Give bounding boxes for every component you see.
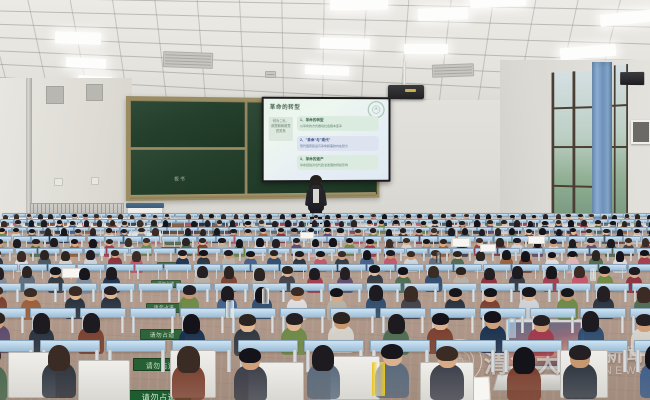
desk-leg xyxy=(44,240,45,247)
desk-leg xyxy=(137,240,138,247)
desk-leg xyxy=(155,240,156,247)
desk-leg xyxy=(414,221,415,226)
student-hair xyxy=(324,228,330,232)
student-hair xyxy=(542,221,548,225)
desk-leg xyxy=(477,269,479,279)
desk-leg xyxy=(303,240,304,247)
desk-leg xyxy=(472,229,473,235)
desk-leg xyxy=(354,252,356,261)
student-hair xyxy=(239,314,256,326)
desk-leg xyxy=(140,289,142,302)
desk-leg xyxy=(346,221,347,226)
student-hair xyxy=(464,214,469,217)
student-hair xyxy=(569,345,591,360)
water-bottle xyxy=(262,288,269,304)
student-hair xyxy=(83,313,100,333)
desk-leg xyxy=(576,221,577,226)
student-hair xyxy=(245,221,251,225)
desk-leg xyxy=(630,221,631,226)
student-hair xyxy=(513,238,520,243)
student-hair xyxy=(453,251,462,257)
desk-leg xyxy=(285,252,287,261)
desk-leg xyxy=(363,229,364,235)
student-hair xyxy=(592,250,601,260)
student-hair xyxy=(256,238,263,247)
student-hair xyxy=(441,214,446,217)
student-hair xyxy=(40,250,49,260)
desk-leg xyxy=(187,269,189,279)
desk-leg xyxy=(53,229,54,235)
desk-leg xyxy=(174,240,175,247)
student-hair xyxy=(260,228,266,232)
student-hair xyxy=(106,228,112,232)
student-hair xyxy=(513,347,535,373)
desk-leg xyxy=(308,252,310,261)
student-hair xyxy=(610,221,616,225)
desk-leg xyxy=(279,221,280,226)
student-hair xyxy=(182,238,189,247)
student-hair xyxy=(449,288,462,297)
student-hair xyxy=(561,288,574,297)
student-hair xyxy=(497,215,502,218)
student-hair xyxy=(474,220,480,227)
desk-leg xyxy=(332,269,334,279)
student-hair xyxy=(338,251,347,257)
desk-leg xyxy=(100,229,101,235)
desk-leg xyxy=(170,252,172,261)
student-hair xyxy=(448,228,454,235)
student-hair xyxy=(106,267,117,280)
student-hair xyxy=(33,313,50,333)
student-hair xyxy=(246,251,255,257)
student-hair xyxy=(393,220,399,224)
desk-leg xyxy=(387,221,388,226)
student-hair xyxy=(122,221,128,225)
desk-leg xyxy=(239,252,241,261)
desk-leg xyxy=(433,240,434,247)
desk-leg xyxy=(360,221,361,226)
water-bottle xyxy=(508,318,516,338)
student-hair xyxy=(295,251,304,257)
student-hair xyxy=(582,311,599,331)
desk-leg xyxy=(71,316,74,333)
student-hair xyxy=(205,220,211,227)
notebook-paper xyxy=(452,238,470,247)
desk-leg xyxy=(607,252,609,261)
desk-leg xyxy=(410,229,411,235)
desk-leg xyxy=(227,350,231,372)
desk-leg xyxy=(586,289,588,302)
student-hair xyxy=(272,239,279,248)
student-hair xyxy=(185,228,191,235)
student-hair xyxy=(431,228,437,232)
student-hair xyxy=(484,288,497,297)
desk-leg xyxy=(192,240,193,247)
desk-leg xyxy=(292,221,293,226)
student-torso xyxy=(430,364,464,400)
student-hair xyxy=(270,250,279,256)
desk-leg xyxy=(503,229,504,235)
student-hair xyxy=(152,228,158,235)
desk-leg xyxy=(396,289,398,302)
desk-leg xyxy=(332,229,333,235)
desk-leg xyxy=(515,252,517,261)
student-hair xyxy=(69,286,82,295)
student-desk xyxy=(130,308,176,318)
desk-leg xyxy=(611,229,612,235)
student-hair xyxy=(548,252,557,258)
desk-leg xyxy=(303,269,305,279)
desk-leg xyxy=(423,252,425,261)
student-hair xyxy=(214,228,220,235)
student-hair xyxy=(404,286,417,302)
desk-leg xyxy=(76,221,77,226)
desk-leg xyxy=(208,229,209,235)
student-hair xyxy=(151,220,157,227)
lecture-hall-photo: 板书 革命的转型 何为これ、 政党和和政党 的关系 1、革命的转型以革命的方式推… xyxy=(0,0,650,400)
desk-leg xyxy=(306,221,307,226)
student-hair xyxy=(178,250,187,256)
desk-leg xyxy=(441,229,442,235)
student-torso xyxy=(563,363,597,399)
desk-leg xyxy=(441,221,442,226)
desk-leg xyxy=(239,229,240,235)
student-hair xyxy=(459,221,465,225)
student xyxy=(563,344,597,397)
desk-leg xyxy=(16,289,18,302)
student-hair xyxy=(484,268,495,281)
student-hair xyxy=(282,266,293,273)
desk-leg xyxy=(507,240,508,247)
student-hair xyxy=(533,315,550,327)
student-hair xyxy=(428,266,439,279)
student xyxy=(234,346,268,399)
student-hair xyxy=(369,265,380,272)
desk-leg xyxy=(394,229,395,235)
student-hair xyxy=(89,239,96,248)
student-hair xyxy=(574,266,585,279)
student-hair xyxy=(616,251,625,261)
student-hair xyxy=(603,229,609,233)
student-hair xyxy=(312,345,334,371)
desk-leg xyxy=(571,316,574,333)
student-hair xyxy=(291,214,296,217)
student-hair xyxy=(13,228,19,232)
desk-leg xyxy=(468,221,469,226)
desk-leg xyxy=(322,240,323,247)
desk-leg xyxy=(229,240,230,247)
student-hair xyxy=(436,346,458,361)
student-hair xyxy=(13,239,20,248)
desk-leg xyxy=(216,252,218,261)
desk-leg xyxy=(521,316,524,333)
student-hair xyxy=(259,220,265,224)
desk-leg xyxy=(255,229,256,235)
desk-leg xyxy=(643,221,644,226)
desk-leg xyxy=(518,229,519,235)
student-hair xyxy=(398,267,409,274)
student-hair xyxy=(132,251,141,261)
desk-leg xyxy=(320,289,322,302)
desk-leg xyxy=(130,221,131,226)
desk-leg xyxy=(549,229,550,235)
desk-leg xyxy=(285,240,286,247)
desk-leg xyxy=(508,221,509,226)
desk-leg xyxy=(589,221,590,226)
desk-leg xyxy=(624,289,626,302)
desk-leg xyxy=(548,289,550,302)
student-hair xyxy=(607,239,614,248)
desk-leg xyxy=(396,240,397,247)
desk-leg xyxy=(225,221,226,226)
student-hair xyxy=(440,239,447,244)
desk-leg xyxy=(7,240,8,247)
desk-leg xyxy=(348,229,349,235)
student xyxy=(507,346,541,399)
student-hair xyxy=(121,229,127,233)
student-hair xyxy=(599,266,610,273)
student-hair xyxy=(403,238,410,243)
student-hair xyxy=(363,250,372,260)
desk-leg xyxy=(78,252,80,261)
student-hair xyxy=(495,228,501,235)
student-hair xyxy=(41,220,47,227)
desk-leg xyxy=(599,240,600,247)
student-hair xyxy=(72,214,77,217)
desk-leg xyxy=(163,240,164,247)
student-hair xyxy=(514,220,520,227)
desk-leg xyxy=(425,229,426,235)
desk-leg xyxy=(38,229,39,235)
student xyxy=(430,344,464,397)
desk-leg xyxy=(178,221,179,226)
student-hair xyxy=(346,238,353,243)
desk-leg xyxy=(340,240,341,247)
desk-leg xyxy=(124,252,126,261)
student-hair xyxy=(256,214,261,217)
student-hair xyxy=(340,267,351,280)
desk-leg xyxy=(270,229,271,235)
student-hair xyxy=(526,229,532,233)
student-hair xyxy=(153,215,158,218)
desk-leg xyxy=(137,269,139,279)
desk-leg xyxy=(421,316,424,333)
student-hair xyxy=(336,214,341,217)
student-hair xyxy=(48,345,70,371)
student-hair xyxy=(589,214,594,217)
student-hair xyxy=(512,266,523,279)
desk-leg xyxy=(603,221,604,226)
desk-leg xyxy=(117,221,118,226)
student-hair xyxy=(0,312,5,324)
student-hair xyxy=(369,285,382,301)
desk-leg xyxy=(131,229,132,235)
student-hair xyxy=(17,251,26,261)
student-hair xyxy=(79,268,90,281)
student-hair xyxy=(110,220,116,227)
student-hair xyxy=(217,220,223,224)
desk-leg xyxy=(92,289,94,302)
desk-leg xyxy=(469,252,471,261)
student-hair xyxy=(333,312,350,324)
desk-leg xyxy=(81,240,82,247)
desk-leg xyxy=(618,240,619,247)
student-hair xyxy=(568,251,577,257)
desk-leg xyxy=(265,221,266,226)
desk-leg xyxy=(561,252,563,261)
desk-leg xyxy=(13,269,15,279)
student-hair xyxy=(417,214,422,217)
student-torso xyxy=(234,365,268,400)
desk-leg xyxy=(155,252,157,261)
desk-leg xyxy=(193,229,194,235)
desk-leg xyxy=(454,221,455,226)
student-hair xyxy=(546,266,557,279)
student-hair xyxy=(337,228,343,232)
student-hair xyxy=(200,229,206,236)
desk-leg xyxy=(221,316,224,333)
student-hair xyxy=(15,220,21,224)
desk-leg xyxy=(184,221,185,226)
desk-leg xyxy=(177,229,178,235)
desk-leg xyxy=(321,316,324,333)
student-hair xyxy=(0,347,1,362)
desk-leg xyxy=(84,229,85,235)
student-hair xyxy=(94,214,99,217)
notebook-paper xyxy=(480,244,496,252)
desk-leg xyxy=(9,221,10,226)
desk-leg xyxy=(286,229,287,235)
desk-leg xyxy=(580,229,581,235)
desk-leg xyxy=(211,240,212,247)
desk-leg xyxy=(491,350,495,372)
student-hair xyxy=(556,220,562,224)
student-hair xyxy=(355,229,361,233)
desk-leg xyxy=(244,289,246,302)
desk-leg xyxy=(446,252,448,261)
water-bottle xyxy=(590,268,596,281)
desk-leg xyxy=(132,316,135,333)
desk-leg xyxy=(169,229,170,235)
student-hair xyxy=(521,251,530,261)
student-hair xyxy=(209,214,214,217)
desk-leg xyxy=(400,221,401,226)
student xyxy=(640,342,650,395)
desk-leg xyxy=(100,269,102,279)
desk-leg xyxy=(26,240,27,247)
desk-leg xyxy=(130,289,132,302)
desk-leg xyxy=(282,289,284,302)
student-hair xyxy=(29,229,35,233)
student-hair xyxy=(640,250,649,256)
desk-leg xyxy=(161,350,165,372)
desk-leg xyxy=(317,229,318,235)
student-hair xyxy=(386,239,393,248)
student-hair xyxy=(285,220,291,227)
desk-leg xyxy=(171,316,174,333)
student-hair xyxy=(183,314,200,334)
student-hair xyxy=(539,228,545,235)
student-hair xyxy=(0,228,5,232)
student-hair xyxy=(0,267,4,280)
desk-leg xyxy=(472,289,474,302)
student-hair xyxy=(617,229,623,236)
desk-leg xyxy=(623,350,627,372)
desk-leg xyxy=(206,289,208,302)
student xyxy=(172,345,206,398)
desk-leg xyxy=(22,229,23,235)
desk-leg xyxy=(9,252,11,261)
notebook-paper xyxy=(528,236,545,244)
student-hair xyxy=(386,250,395,256)
student-hair xyxy=(45,228,51,235)
student-hair xyxy=(183,285,196,294)
desk-leg xyxy=(535,221,536,226)
student-hair xyxy=(236,239,243,248)
student-hair xyxy=(432,220,438,224)
student-hair xyxy=(137,220,143,227)
desk-leg xyxy=(248,240,249,247)
desk-leg xyxy=(492,252,494,261)
desk-leg xyxy=(487,229,488,235)
desk-leg xyxy=(495,221,496,226)
desk-leg xyxy=(54,289,56,302)
student-hair xyxy=(224,266,235,279)
student-hair xyxy=(239,348,261,363)
desk-leg xyxy=(166,269,168,279)
desk-leg xyxy=(377,240,378,247)
student-hair xyxy=(218,238,225,243)
student-hair xyxy=(502,250,511,260)
student-hair xyxy=(645,344,650,370)
student-hair xyxy=(388,314,405,334)
student-hair xyxy=(568,220,574,227)
student-hair xyxy=(581,220,587,227)
desk-leg xyxy=(359,240,360,247)
desk-leg xyxy=(36,221,37,226)
student-hair xyxy=(510,215,515,218)
chair-back xyxy=(78,360,130,400)
desk-leg xyxy=(238,221,239,226)
water-bottle xyxy=(100,246,104,256)
student xyxy=(42,343,76,396)
student xyxy=(307,343,341,396)
student-hair xyxy=(143,238,150,243)
student-hair xyxy=(370,228,376,232)
desk-leg xyxy=(538,252,540,261)
desk-leg xyxy=(627,229,628,235)
student-hair xyxy=(224,250,233,256)
desk-leg xyxy=(642,229,643,235)
student-hair xyxy=(329,238,336,247)
desk-leg xyxy=(448,269,450,279)
student-hair xyxy=(484,311,501,323)
desk-leg xyxy=(168,289,170,302)
desk-leg xyxy=(49,221,50,226)
desk-leg xyxy=(158,269,160,279)
student-hair xyxy=(330,288,343,297)
desk-leg xyxy=(562,240,563,247)
student-hair xyxy=(381,344,403,359)
water-bottle xyxy=(372,362,385,396)
desk-leg xyxy=(224,229,225,235)
desk-leg xyxy=(129,269,131,279)
student-hair xyxy=(286,313,303,325)
student-hair xyxy=(107,215,112,218)
student-hair xyxy=(291,228,297,232)
desk-leg xyxy=(333,221,334,226)
student-hair xyxy=(86,250,95,260)
